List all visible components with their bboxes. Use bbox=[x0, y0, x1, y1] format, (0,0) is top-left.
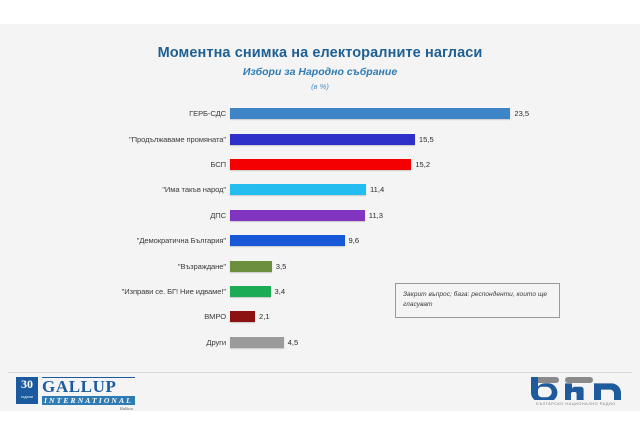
bar-value-label: 2,1 bbox=[259, 312, 270, 321]
bar-segment bbox=[230, 261, 272, 272]
bar-value-label: 15,5 bbox=[419, 135, 434, 144]
bar-segment bbox=[230, 235, 345, 246]
gallup-region-label: Balkan bbox=[42, 406, 135, 412]
bar-category-label: Други bbox=[0, 338, 230, 347]
gallup-anniversary-number: 30 bbox=[21, 378, 33, 391]
bnr-logo-icon bbox=[528, 376, 624, 400]
bar-track: 3,5 bbox=[230, 253, 640, 278]
footer: 30 години GALLUP INTERNATIONAL Balkan bbox=[0, 373, 640, 411]
bar-row: "Продължаваме промяната"15,5 bbox=[0, 126, 640, 151]
bar-row: "Демократична България"9,6 bbox=[0, 228, 640, 253]
bar-category-label: "Има такъв народ" bbox=[0, 185, 230, 194]
bar-category-label: "Възраждане" bbox=[0, 262, 230, 271]
bnr-full-name: БЪЛГАРСКО НАЦИОНАЛНО РАДИО bbox=[528, 401, 624, 407]
bar-track: 15,5 bbox=[230, 126, 640, 151]
bar-row: "Има такъв народ"11,4 bbox=[0, 177, 640, 202]
bar-value-label: 11,4 bbox=[370, 185, 384, 194]
bar-segment bbox=[230, 184, 366, 195]
bar-row: "Възраждане"3,5 bbox=[0, 253, 640, 278]
gallup-wordmark: GALLUP INTERNATIONAL Balkan bbox=[42, 377, 135, 412]
chart-slide: Моментна снимка на електоралните нагласи… bbox=[0, 24, 640, 411]
bar-row: ГЕРБ-СДС23,5 bbox=[0, 101, 640, 126]
bar-track: 9,6 bbox=[230, 228, 640, 253]
gallup-brand-subname: INTERNATIONAL bbox=[42, 396, 135, 405]
bar-category-label: "Продължаваме промяната" bbox=[0, 135, 230, 144]
bar-segment bbox=[230, 108, 510, 119]
chart-unit-label: (в %) bbox=[0, 81, 640, 93]
bar-category-label: БСП bbox=[0, 160, 230, 169]
gallup-international-logo: 30 години GALLUP INTERNATIONAL Balkan bbox=[16, 377, 135, 412]
bar-segment bbox=[230, 210, 365, 221]
bar-value-label: 9,6 bbox=[349, 236, 360, 245]
bar-value-label: 23,5 bbox=[514, 109, 529, 118]
chart-title: Моментна снимка на електоралните нагласи bbox=[0, 45, 640, 62]
bar-row: ДПС11,3 bbox=[0, 203, 640, 228]
slide-canvas: Моментна снимка на електоралните нагласи… bbox=[0, 0, 640, 439]
gallup-brand-name: GALLUP bbox=[42, 377, 135, 395]
bar-category-label: ДПС bbox=[0, 211, 230, 220]
bar-category-label: "Демократична България" bbox=[0, 236, 230, 245]
gallup-anniversary-badge: 30 години bbox=[16, 377, 38, 404]
bar-value-label: 15,2 bbox=[415, 160, 430, 169]
bar-track: 15,2 bbox=[230, 152, 640, 177]
bnr-logo: БЪЛГАРСКО НАЦИОНАЛНО РАДИО bbox=[528, 376, 624, 407]
bar-track: 11,4 bbox=[230, 177, 640, 202]
bar-track: 23,5 bbox=[230, 101, 640, 126]
gallup-anniversary-word: години bbox=[21, 395, 33, 400]
bar-category-label: ВМРО bbox=[0, 312, 230, 321]
bar-segment bbox=[230, 337, 284, 348]
bar-category-label: ГЕРБ-СДС bbox=[0, 109, 230, 118]
bar-segment bbox=[230, 134, 415, 145]
chart-subtitle: Избори за Народно събрание bbox=[0, 65, 640, 80]
bar-category-label: "Изправи се. БГ! Ние идваме!" bbox=[0, 287, 230, 296]
bar-value-label: 4,5 bbox=[288, 338, 299, 347]
methodology-note: Закрит въпрос; база: респонденти, които … bbox=[395, 283, 560, 318]
bar-value-label: 3,4 bbox=[275, 287, 286, 296]
bar-segment bbox=[230, 159, 411, 170]
bar-value-label: 11,3 bbox=[369, 211, 383, 220]
bar-segment bbox=[230, 311, 255, 322]
bar-row: БСП15,2 bbox=[0, 152, 640, 177]
bar-value-label: 3,5 bbox=[276, 262, 287, 271]
chart-header: Моментна снимка на електоралните нагласи… bbox=[0, 45, 640, 93]
bar-track: 4,5 bbox=[230, 330, 640, 355]
bar-segment bbox=[230, 286, 271, 297]
bar-track: 11,3 bbox=[230, 203, 640, 228]
bar-row: Други4,5 bbox=[0, 330, 640, 355]
